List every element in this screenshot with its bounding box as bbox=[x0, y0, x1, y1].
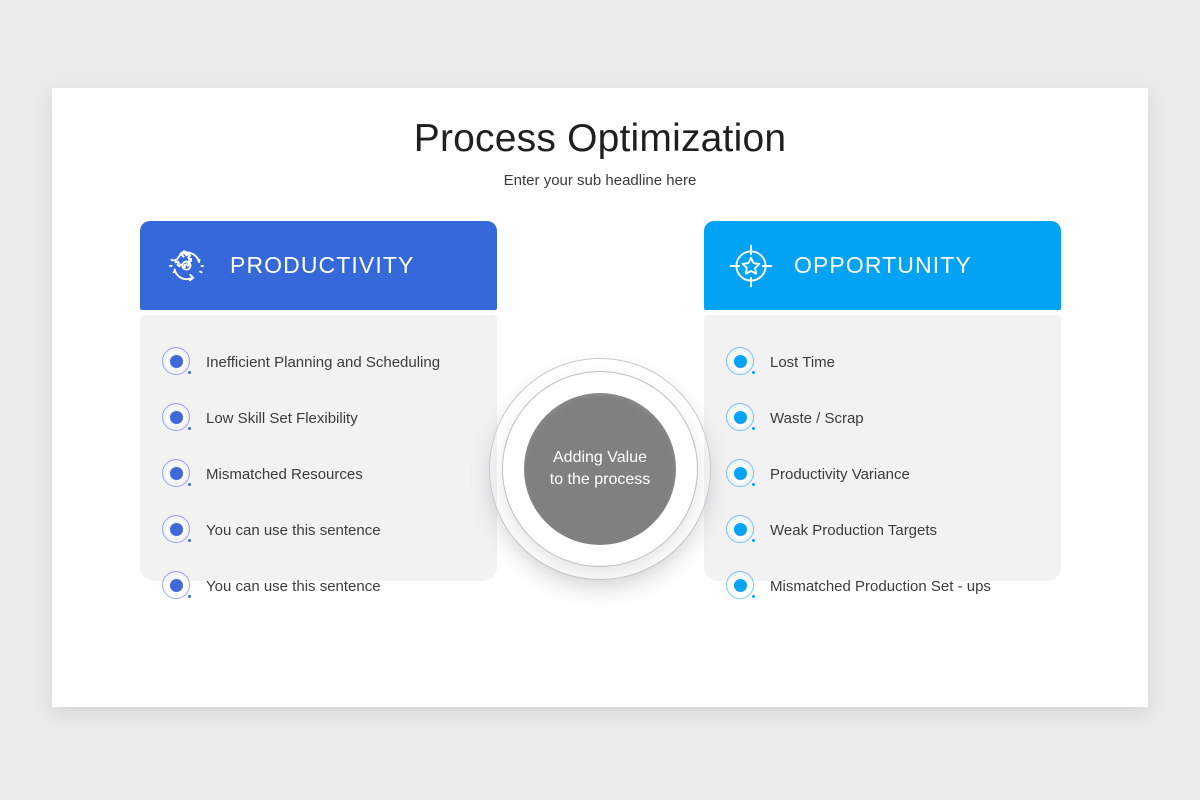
list-item[interactable]: You can use this sentence bbox=[140, 513, 497, 547]
card-header-opportunity[interactable]: OPPORTUNITY bbox=[704, 221, 1061, 310]
list-item-label: Low Skill Set Flexibility bbox=[206, 410, 358, 427]
list-item-label: Mismatched Production Set - ups bbox=[770, 578, 991, 595]
target-star-icon bbox=[724, 239, 778, 293]
bullet-icon bbox=[162, 347, 192, 377]
badge-label: Adding Value to the process bbox=[550, 447, 651, 491]
slide-canvas: Process Optimization Enter your sub head… bbox=[52, 88, 1148, 707]
card-header-productivity[interactable]: PRODUCTIVITY bbox=[140, 221, 497, 310]
card-title-productivity: PRODUCTIVITY bbox=[230, 252, 414, 279]
bullet-icon bbox=[162, 403, 192, 433]
bullet-icon bbox=[162, 571, 192, 601]
badge-disc: Adding Value to the process bbox=[524, 393, 676, 545]
list-item-label: Lost Time bbox=[770, 354, 835, 371]
list-item[interactable]: Mismatched Production Set - ups bbox=[704, 569, 1061, 603]
bullet-icon bbox=[726, 459, 756, 489]
bullet-icon bbox=[726, 347, 756, 377]
card-body-productivity: Inefficient Planning and Scheduling Low … bbox=[140, 315, 497, 581]
card-opportunity: OPPORTUNITY Lost Time Waste / Scrap Prod… bbox=[704, 221, 1061, 581]
list-item-label: Productivity Variance bbox=[770, 466, 910, 483]
list-item[interactable]: Mismatched Resources bbox=[140, 457, 497, 491]
bullet-icon bbox=[726, 571, 756, 601]
card-body-opportunity: Lost Time Waste / Scrap Productivity Var… bbox=[704, 315, 1061, 581]
bullet-icon bbox=[726, 515, 756, 545]
list-item[interactable]: Lost Time bbox=[704, 345, 1061, 379]
list-item-label: Mismatched Resources bbox=[206, 466, 363, 483]
bullet-icon bbox=[162, 515, 192, 545]
card-productivity: PRODUCTIVITY Inefficient Planning and Sc… bbox=[140, 221, 497, 581]
bullet-icon bbox=[162, 459, 192, 489]
list-item-label: Weak Production Targets bbox=[770, 522, 937, 539]
gear-refresh-icon bbox=[160, 239, 214, 293]
list-item[interactable]: Productivity Variance bbox=[704, 457, 1061, 491]
list-item[interactable]: Weak Production Targets bbox=[704, 513, 1061, 547]
list-item[interactable]: Waste / Scrap bbox=[704, 401, 1061, 435]
page-subtitle: Enter your sub headline here bbox=[52, 172, 1148, 189]
list-item-label: Inefficient Planning and Scheduling bbox=[206, 354, 440, 371]
bullet-icon bbox=[726, 403, 756, 433]
page-title: Process Optimization bbox=[52, 117, 1148, 161]
card-title-opportunity: OPPORTUNITY bbox=[794, 252, 972, 279]
list-item[interactable]: Low Skill Set Flexibility bbox=[140, 401, 497, 435]
center-badge[interactable]: Adding Value to the process bbox=[489, 358, 711, 580]
list-item[interactable]: Inefficient Planning and Scheduling bbox=[140, 345, 497, 379]
list-item-label: You can use this sentence bbox=[206, 522, 381, 539]
list-item[interactable]: You can use this sentence bbox=[140, 569, 497, 603]
list-item-label: Waste / Scrap bbox=[770, 410, 864, 427]
list-item-label: You can use this sentence bbox=[206, 578, 381, 595]
